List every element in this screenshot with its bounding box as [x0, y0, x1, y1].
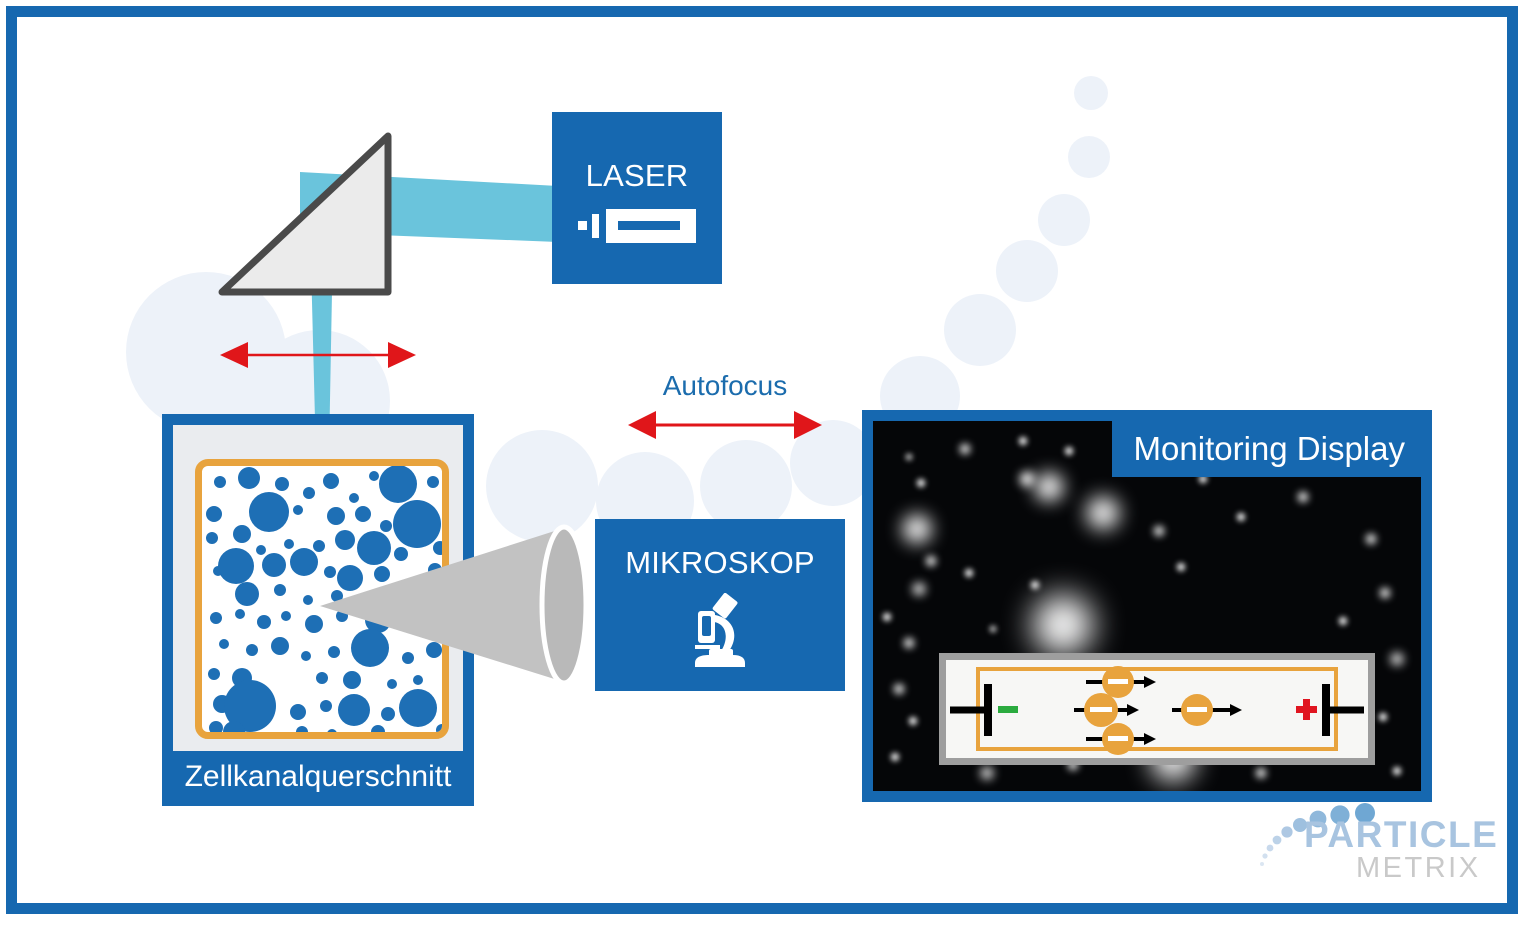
cell-channel-particle	[303, 487, 315, 499]
microscopy-particle	[1391, 653, 1403, 665]
microscope-label: MIKROSKOP	[595, 547, 845, 580]
cell-channel-particle	[281, 611, 291, 621]
monitoring-display-title: Monitoring Display	[1134, 430, 1405, 468]
monitoring-display-panel[interactable]: Monitoring Display	[862, 410, 1432, 802]
cell-channel-particle	[327, 729, 337, 739]
microscopy-particle	[1366, 534, 1376, 544]
cell-channel-particle	[256, 545, 266, 555]
microscopy-particle	[1177, 563, 1185, 571]
diagram-canvas: LASER Autofocus Zellkanalquerschnitt	[0, 0, 1536, 928]
cell-channel-particle	[257, 615, 271, 629]
microscopy-particle	[1154, 526, 1164, 536]
cell-channel-particle	[275, 477, 289, 491]
microscopy-particle	[960, 444, 970, 454]
electrophoresis-diagram	[946, 660, 1368, 758]
microscopy-particle	[1019, 437, 1027, 445]
microscopy-particle	[1065, 447, 1073, 455]
cell-channel-particle	[379, 465, 417, 503]
microscopy-particle	[1379, 713, 1387, 721]
cell-channel-particle	[208, 668, 220, 680]
microscopy-particle	[1033, 595, 1093, 655]
microscope-view-cone	[292, 510, 604, 700]
cell-channel-particle	[223, 721, 245, 739]
microscopy-particle	[1031, 581, 1039, 589]
cell-channel-particle	[290, 704, 306, 720]
laser-module[interactable]: LASER	[552, 112, 722, 284]
cell-channel-particle	[371, 725, 385, 739]
cell-channel-label: Zellkanalquerschnitt	[162, 760, 474, 794]
cell-channel-particle	[320, 700, 332, 712]
microscopy-particle	[1298, 492, 1308, 502]
microscopy-particle	[981, 767, 993, 779]
cell-channel-particle	[296, 726, 308, 738]
microscopy-particle	[1380, 588, 1390, 598]
microscopy-particle	[1339, 617, 1347, 625]
microscopy-particle	[1035, 473, 1063, 501]
microscopy-particle	[883, 613, 891, 621]
background-bubble	[1068, 136, 1110, 178]
laser-pointer-icon	[578, 208, 696, 244]
cell-channel-particle	[436, 724, 448, 736]
background-bubble	[944, 294, 1016, 366]
cell-channel-particle	[271, 637, 289, 655]
microscopy-particle	[1237, 513, 1245, 521]
electrophoresis-particle	[1172, 694, 1242, 726]
cell-channel-particle	[427, 476, 439, 488]
microscopy-particle	[1087, 497, 1119, 529]
cell-channel-particle	[218, 548, 254, 584]
background-bubble	[1074, 76, 1108, 110]
prism-adjust-arrow-icon	[218, 338, 418, 372]
positive-electrode-marker	[1296, 699, 1317, 720]
microscopy-particle	[909, 717, 917, 725]
cell-channel-particle	[210, 612, 222, 624]
cell-channel-particle	[219, 639, 229, 649]
microscopy-particle	[1393, 767, 1401, 775]
microscopy-particle	[965, 569, 973, 577]
microscopy-particle	[904, 638, 914, 648]
negative-electrode-marker	[998, 706, 1018, 713]
electrophoresis-particle	[1074, 693, 1139, 727]
monitoring-display-title-band: Monitoring Display	[1112, 421, 1421, 477]
cell-channel-particle	[233, 525, 251, 543]
cell-channel-particle	[246, 644, 258, 656]
microscopy-particle	[906, 454, 912, 460]
cell-channel-particle	[369, 471, 379, 481]
particle-metrix-logo: PARTICLE METRIX	[1252, 802, 1492, 894]
cell-channel-particle	[206, 532, 218, 544]
microscopy-particle	[917, 479, 925, 487]
logo-primary-text: PARTICLE	[1304, 814, 1498, 856]
cell-channel-particle	[349, 493, 359, 503]
autofocus-arrow-icon	[626, 408, 824, 442]
autofocus-label: Autofocus	[600, 370, 850, 402]
microscopy-particle	[1256, 768, 1266, 778]
cell-channel-particle	[381, 707, 395, 721]
microscopy-particle	[1020, 472, 1034, 486]
cell-channel-particle	[323, 473, 339, 489]
prism-mirror-icon	[216, 128, 396, 300]
microscopy-particle	[891, 753, 899, 761]
cell-channel-particle	[274, 584, 286, 596]
cell-channel-particle	[262, 553, 286, 577]
cell-channel-particle	[238, 467, 260, 489]
microscope-icon	[681, 593, 759, 671]
cell-channel-particle	[209, 721, 223, 735]
cell-channel-particle	[214, 476, 226, 488]
cell-channel-particle	[206, 506, 222, 522]
microscopy-particle	[990, 626, 996, 632]
electrophoresis-overlay	[939, 653, 1375, 765]
microscopy-particle	[903, 515, 931, 543]
microscope-module[interactable]: MIKROSKOP	[595, 519, 845, 691]
laser-label: LASER	[552, 160, 722, 193]
microscopy-particle	[926, 556, 936, 566]
cell-channel-particle	[249, 492, 289, 532]
monitoring-display-screen: Monitoring Display	[873, 421, 1421, 791]
cell-channel-particle	[235, 609, 245, 619]
microscopy-particle	[894, 684, 904, 694]
cell-channel-particle	[235, 582, 259, 606]
microscopy-particle	[913, 583, 925, 595]
logo-secondary-text: METRIX	[1356, 852, 1481, 885]
background-bubble	[996, 240, 1058, 302]
background-bubble	[1038, 194, 1090, 246]
